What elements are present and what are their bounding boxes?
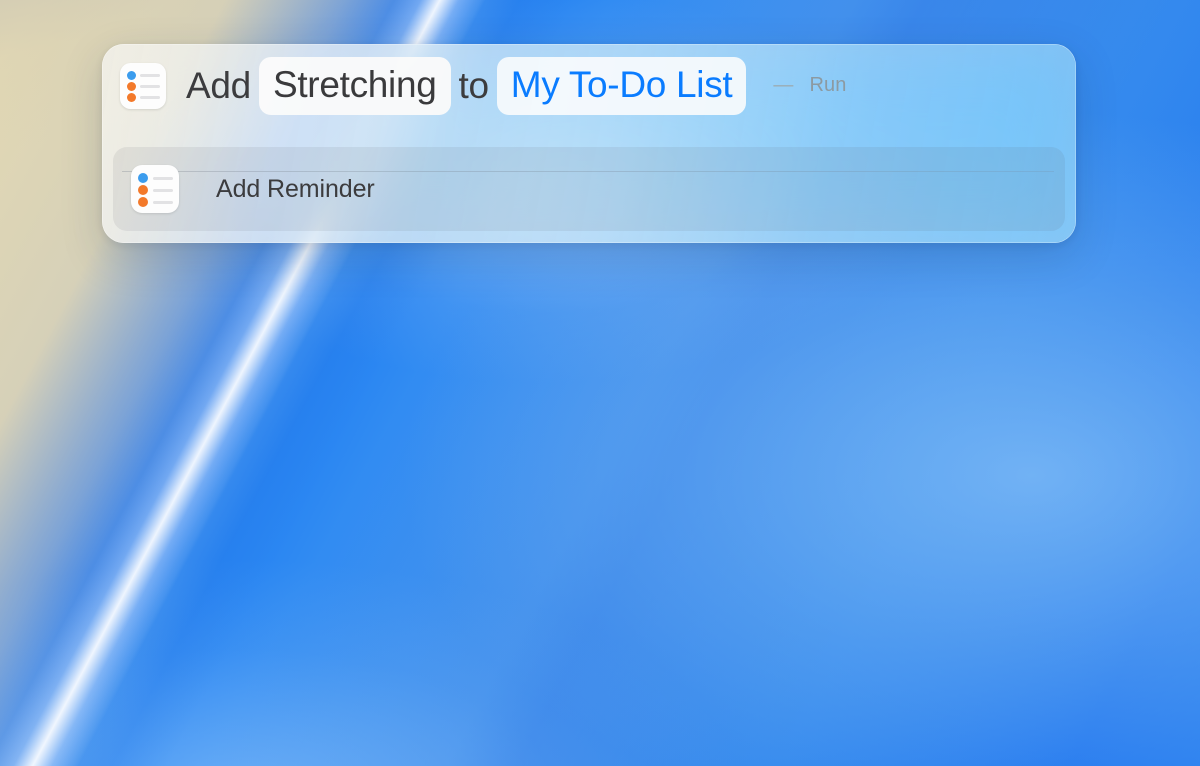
- reminders-icon-row: [138, 173, 173, 183]
- run-label[interactable]: Run: [810, 74, 847, 97]
- spotlight-quick-action-panel[interactable]: Add Stretching to My To-Do List — Run: [102, 44, 1076, 243]
- reminders-icon: [131, 165, 179, 213]
- query-token-item[interactable]: Stretching: [259, 57, 451, 115]
- suggestion-row-add-reminder[interactable]: Add Reminder: [113, 147, 1065, 231]
- reminders-icon: [120, 63, 166, 109]
- reminders-icon-row: [138, 197, 173, 207]
- run-hint: — Run: [773, 74, 846, 97]
- reminders-icon-row: [138, 185, 173, 195]
- reminders-icon-row: [127, 82, 160, 91]
- desktop-wallpaper: Add Stretching to My To-Do List — Run: [0, 0, 1200, 766]
- query-word-to: to: [456, 67, 492, 104]
- run-dash-separator: —: [773, 74, 793, 97]
- reminders-icon-row: [127, 71, 160, 80]
- query-token-list[interactable]: My To-Do List: [497, 57, 747, 115]
- query-input[interactable]: Add Stretching to My To-Do List: [183, 57, 751, 115]
- query-word-add: Add: [183, 67, 254, 104]
- reminders-icon-row: [127, 93, 160, 102]
- suggestion-label: Add Reminder: [216, 175, 375, 204]
- query-row[interactable]: Add Stretching to My To-Do List — Run: [102, 44, 1076, 127]
